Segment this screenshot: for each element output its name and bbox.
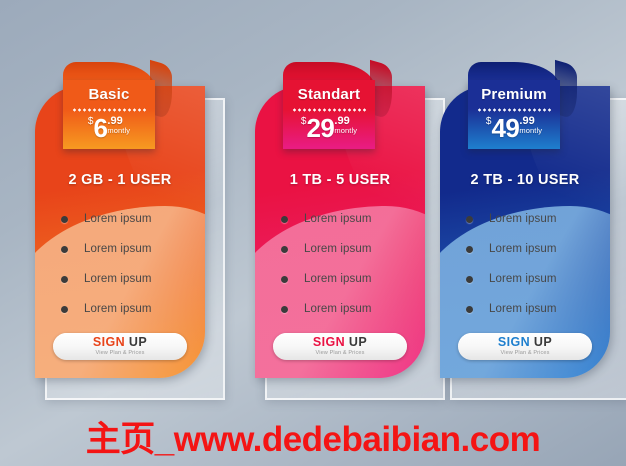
bullet-icon	[61, 246, 68, 253]
list-item: Lorem ipsum	[440, 204, 610, 234]
feature-label: Lorem ipsum	[84, 303, 152, 315]
feature-label: Lorem ipsum	[84, 243, 152, 255]
bullet-icon	[466, 276, 473, 283]
sign-up-sublabel: View Plan & Prices	[501, 349, 550, 357]
plan-price: $29.99montly	[283, 115, 375, 141]
feature-list: Lorem ipsum Lorem ipsum Lorem ipsum Lore…	[255, 204, 425, 354]
plan-price: $6.99montly	[63, 115, 155, 141]
plan-quota: 1 TB - 5 USER	[255, 172, 425, 188]
perforation-dots	[72, 108, 146, 112]
sign-up-label-rest: UP	[125, 335, 147, 349]
price-amount: 29	[306, 113, 334, 143]
sign-up-label-rest: UP	[530, 335, 552, 349]
list-item: Lorem ipsum	[255, 204, 425, 234]
plan-name: Basic	[63, 85, 155, 104]
price-cents: .99	[334, 116, 357, 126]
plan-tag: Standart $29.99montly	[283, 80, 375, 149]
sign-up-label: SIGN UP	[93, 336, 147, 349]
list-item: Lorem ipsum	[35, 264, 205, 294]
plan-price: $49.99montly	[468, 115, 560, 141]
bullet-icon	[281, 216, 288, 223]
plan-tag: Basic $6.99montly	[63, 80, 155, 149]
list-item: Lorem ipsum	[35, 234, 205, 264]
feature-label: Lorem ipsum	[489, 303, 557, 315]
list-item: Lorem ipsum	[35, 294, 205, 324]
price-cents: .99	[519, 116, 542, 126]
bullet-icon	[466, 246, 473, 253]
list-item: Lorem ipsum	[440, 234, 610, 264]
sign-up-label-rest: UP	[345, 335, 367, 349]
price-cents: .99	[107, 116, 130, 126]
bullet-icon	[281, 276, 288, 283]
sign-up-sublabel: View Plan & Prices	[96, 349, 145, 357]
sign-up-button[interactable]: SIGN UP View Plan & Prices	[53, 333, 187, 360]
price-period: montly	[107, 126, 130, 135]
list-item: Lorem ipsum	[440, 294, 610, 324]
price-amount: 49	[491, 113, 519, 143]
plan-quota: 2 GB - 1 USER	[35, 172, 205, 188]
pricing-card-basic[interactable]: Basic $6.99montly 2 GB - 1 USER Lorem ip…	[35, 86, 217, 396]
list-item: Lorem ipsum	[255, 234, 425, 264]
price-amount: 6	[93, 113, 107, 143]
bullet-icon	[61, 306, 68, 313]
sign-up-sublabel: View Plan & Prices	[316, 349, 365, 357]
price-period: montly	[334, 126, 357, 135]
perforation-dots	[292, 108, 366, 112]
sign-up-label-accent: SIGN	[313, 335, 345, 349]
feature-label: Lorem ipsum	[304, 213, 372, 225]
list-item: Lorem ipsum	[255, 264, 425, 294]
pricing-card-standart[interactable]: Standart $29.99montly 1 TB - 5 USER Lore…	[255, 86, 437, 396]
list-item: Lorem ipsum	[255, 294, 425, 324]
feature-list: Lorem ipsum Lorem ipsum Lorem ipsum Lore…	[35, 204, 205, 354]
feature-label: Lorem ipsum	[84, 273, 152, 285]
list-item: Lorem ipsum	[35, 204, 205, 234]
feature-list: Lorem ipsum Lorem ipsum Lorem ipsum Lore…	[440, 204, 610, 354]
bullet-icon	[281, 246, 288, 253]
pricing-card-premium[interactable]: Premium $49.99montly 2 TB - 10 USER Lore…	[440, 86, 622, 396]
feature-label: Lorem ipsum	[304, 273, 372, 285]
feature-label: Lorem ipsum	[489, 243, 557, 255]
sign-up-button[interactable]: SIGN UP View Plan & Prices	[458, 333, 592, 360]
list-item: Lorem ipsum	[440, 264, 610, 294]
perforation-dots	[477, 108, 551, 112]
plan-tag: Premium $49.99montly	[468, 80, 560, 149]
plan-name: Standart	[283, 85, 375, 104]
bullet-icon	[466, 306, 473, 313]
sign-up-label-accent: SIGN	[93, 335, 125, 349]
plan-quota: 2 TB - 10 USER	[440, 172, 610, 188]
feature-label: Lorem ipsum	[489, 213, 557, 225]
site-watermark: 主页_www.dedebaibian.com	[0, 411, 626, 462]
price-period: montly	[519, 126, 542, 135]
feature-label: Lorem ipsum	[304, 303, 372, 315]
bullet-icon	[281, 306, 288, 313]
sign-up-label-accent: SIGN	[498, 335, 530, 349]
feature-label: Lorem ipsum	[489, 273, 557, 285]
feature-label: Lorem ipsum	[304, 243, 372, 255]
bullet-icon	[61, 276, 68, 283]
sign-up-button[interactable]: SIGN UP View Plan & Prices	[273, 333, 407, 360]
feature-label: Lorem ipsum	[84, 213, 152, 225]
sign-up-label: SIGN UP	[313, 336, 367, 349]
plan-name: Premium	[468, 85, 560, 104]
bullet-icon	[61, 216, 68, 223]
sign-up-label: SIGN UP	[498, 336, 552, 349]
bullet-icon	[466, 216, 473, 223]
pricing-table-stage: Basic $6.99montly 2 GB - 1 USER Lorem ip…	[0, 0, 626, 466]
